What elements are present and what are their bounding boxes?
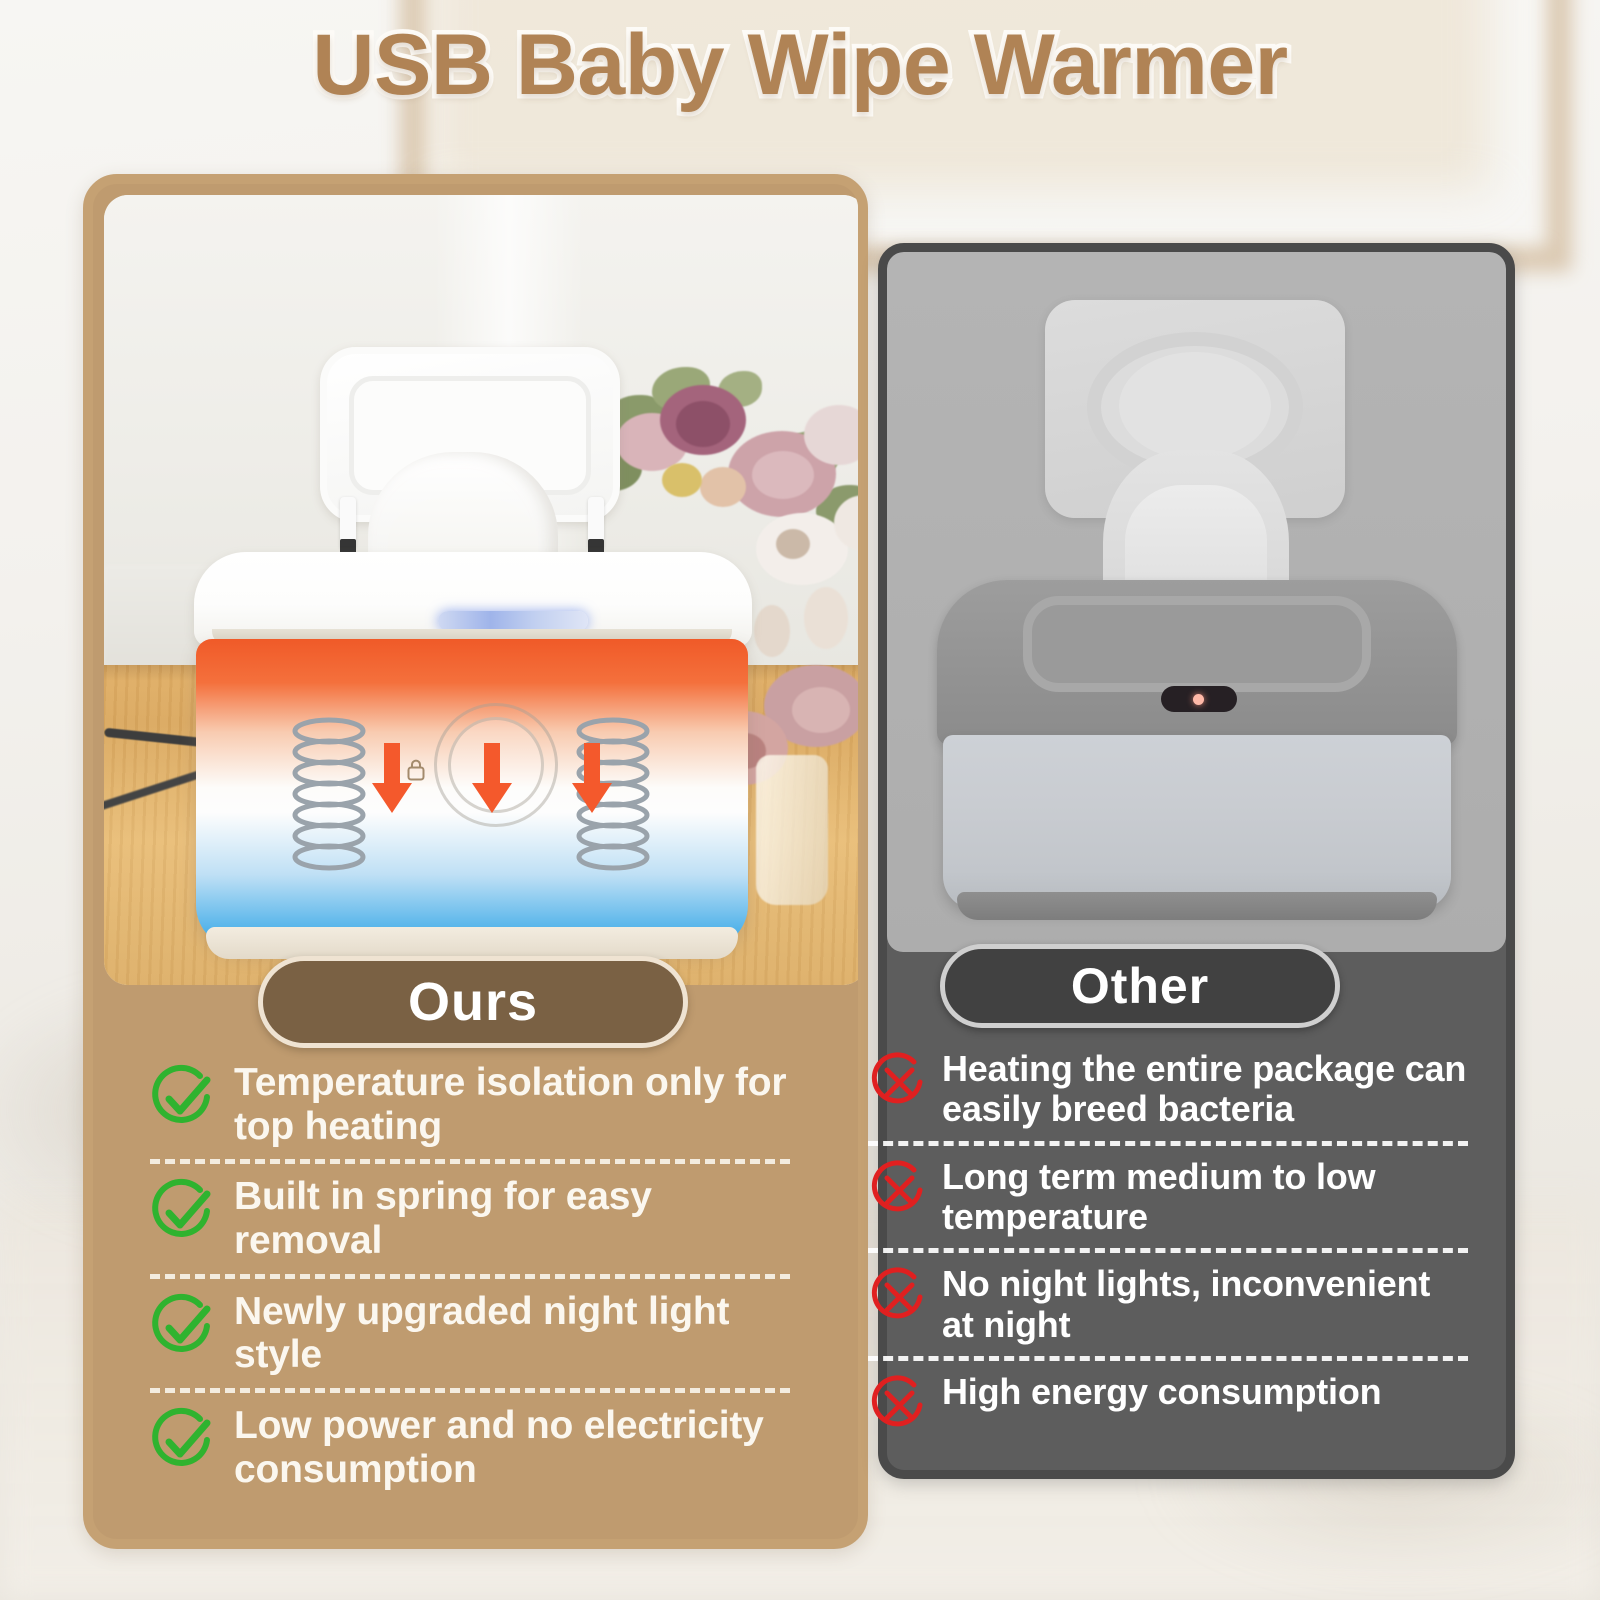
red-x-circle-icon	[868, 1051, 930, 1113]
list-separator	[868, 1248, 1468, 1253]
heat-down-arrow-icon-3	[572, 743, 612, 815]
feature-text: Temperature isolation only for top heati…	[234, 1061, 790, 1148]
blue-led-indicator	[438, 611, 588, 631]
heat-down-arrow-icon-1	[372, 743, 412, 815]
list-separator	[150, 1274, 790, 1279]
other-device-base	[957, 892, 1437, 920]
other-warmer-device	[927, 300, 1467, 940]
heat-down-arrow-icon-2	[472, 743, 512, 815]
ours-label-text: Ours	[408, 971, 538, 1033]
list-item: High energy consumption	[868, 1363, 1468, 1445]
other-device-lid-ring-inner	[1119, 352, 1271, 460]
page-title: USB Baby Wipe Warmer	[0, 16, 1600, 115]
list-item: Long term medium to low temperature	[868, 1148, 1468, 1247]
green-check-circle-icon	[150, 1292, 218, 1360]
internal-spring-left-icon	[288, 715, 370, 875]
list-separator	[868, 1356, 1468, 1361]
drawback-text: Long term medium to low temperature	[942, 1157, 1468, 1238]
red-indicator-light	[1193, 694, 1204, 705]
green-check-circle-icon	[150, 1177, 218, 1245]
other-drawback-list: Heating the entire package can easily br…	[868, 1040, 1468, 1445]
feature-text: Low power and no electricity consumption	[234, 1404, 790, 1491]
list-separator	[150, 1388, 790, 1393]
other-product-photo	[887, 252, 1506, 952]
ours-label-pill: Ours	[258, 956, 688, 1048]
other-label-text: Other	[1071, 957, 1209, 1015]
list-item: Built in spring for easy removal	[150, 1166, 790, 1271]
device-base	[206, 927, 738, 959]
drawback-text: High energy consumption	[942, 1372, 1381, 1412]
list-item: No night lights, inconvenient at night	[868, 1255, 1468, 1354]
list-separator	[868, 1141, 1468, 1146]
ours-warmer-device	[192, 347, 752, 967]
drawback-text: Heating the entire package can easily br…	[942, 1049, 1468, 1130]
photo-glass-vase	[756, 755, 828, 905]
other-device-lid-rim	[1023, 596, 1371, 692]
list-item: Low power and no electricity consumption	[150, 1395, 790, 1500]
green-check-circle-icon	[150, 1406, 218, 1474]
other-label-pill: Other	[940, 944, 1340, 1028]
red-x-circle-icon	[868, 1374, 930, 1436]
list-separator	[150, 1159, 790, 1164]
feature-text: Built in spring for easy removal	[234, 1175, 790, 1262]
green-check-circle-icon	[150, 1063, 218, 1131]
drawback-text: No night lights, inconvenient at night	[942, 1264, 1468, 1345]
list-item: Temperature isolation only for top heati…	[150, 1052, 790, 1157]
other-device-body	[943, 735, 1451, 910]
list-item: Newly upgraded night light style	[150, 1281, 790, 1386]
red-x-circle-icon	[868, 1159, 930, 1221]
ours-product-photo	[104, 195, 867, 985]
feature-text: Newly upgraded night light style	[234, 1290, 790, 1377]
list-item: Heating the entire package can easily br…	[868, 1040, 1468, 1139]
red-x-circle-icon	[868, 1266, 930, 1328]
ours-feature-list: Temperature isolation only for top heati…	[150, 1052, 790, 1500]
